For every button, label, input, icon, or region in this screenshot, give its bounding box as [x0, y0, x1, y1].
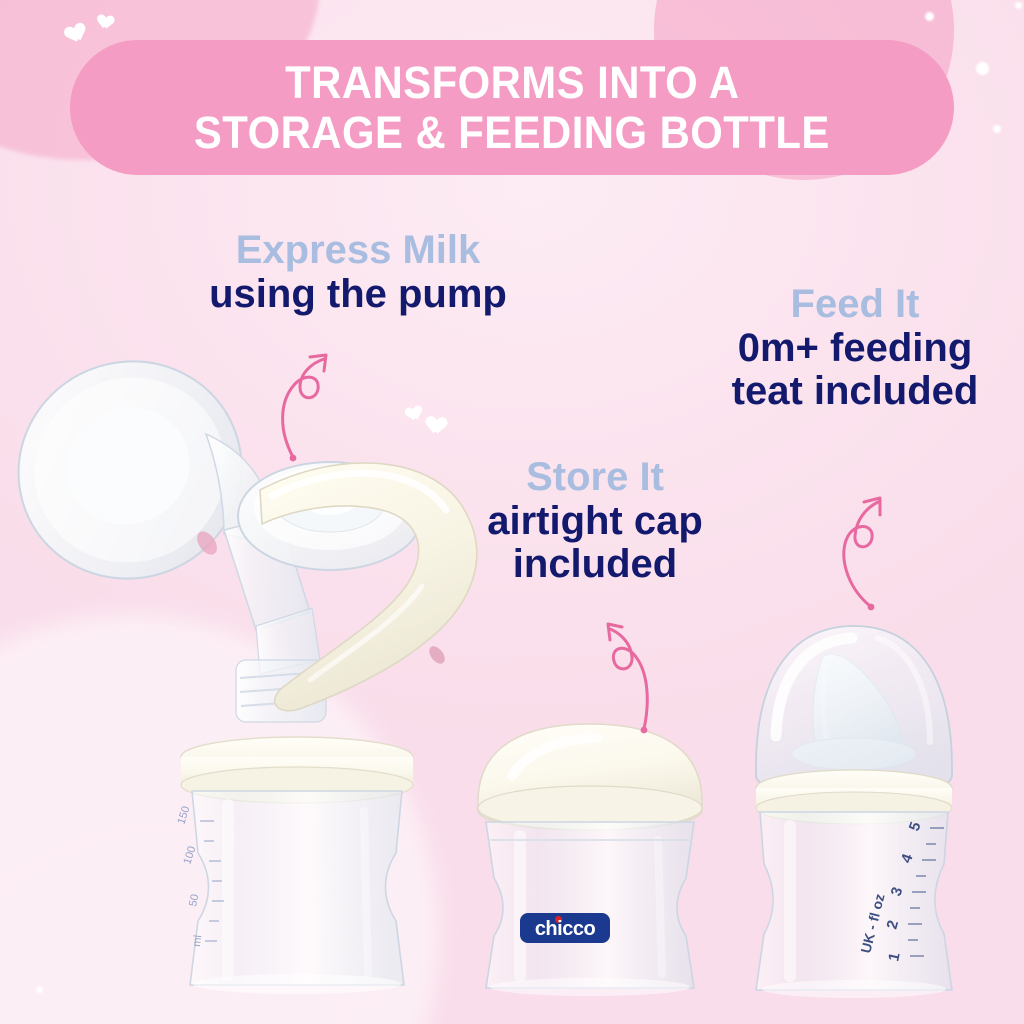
svg-text:50: 50 — [187, 893, 201, 907]
callout-title: Feed It — [690, 282, 1020, 327]
pump-breast-shield — [10, 330, 274, 612]
sparkle-icon — [1015, 2, 1022, 9]
banner-line-1: TRANSFORMS INTO A — [285, 59, 739, 106]
svg-text:150: 150 — [175, 805, 192, 826]
headline-banner: TRANSFORMS INTO A STORAGE & FEEDING BOTT… — [70, 40, 954, 175]
callout-body-line: included — [420, 543, 770, 586]
banner-line-2: STORAGE & FEEDING BOTTLE — [194, 109, 830, 156]
curly-arrow-to-storage — [592, 615, 672, 735]
callout-express-milk: Express Milk using the pump — [148, 228, 568, 316]
pump-bottle-illustration: 150 100 50 ml — [168, 735, 426, 995]
sparkle-icon — [993, 125, 1001, 133]
airtight-cap — [478, 724, 702, 830]
callout-feed-it: Feed It 0m+ feeding teat included — [690, 282, 1020, 413]
sparkle-icon — [36, 986, 43, 993]
feeding-bottle-illustration: 5 4 3 2 1 UK - fl oz — [730, 612, 980, 1002]
callout-body-line: airtight cap — [420, 500, 770, 543]
curly-arrow-to-pump — [262, 345, 342, 465]
sparkle-icon — [976, 62, 989, 75]
svg-text:100: 100 — [181, 845, 198, 866]
callout-title: Store It — [420, 455, 770, 500]
chicco-logo: chicco — [520, 913, 610, 943]
curly-arrow-to-bottle — [822, 488, 907, 616]
logo-text: chicco — [535, 918, 595, 941]
heart-icon — [100, 15, 114, 31]
callout-body-line: using the pump — [148, 273, 568, 316]
sparkle-icon — [925, 12, 934, 21]
svg-text:ml: ml — [191, 935, 204, 948]
product-feature-image: TRANSFORMS INTO A STORAGE & FEEDING BOTT… — [0, 0, 1024, 1024]
storage-container-illustration — [468, 718, 712, 998]
callout-store-it: Store It airtight cap included — [420, 455, 770, 586]
callout-body-line: teat included — [690, 370, 1020, 413]
callout-title: Express Milk — [148, 228, 568, 273]
callout-body-line: 0m+ feeding — [690, 327, 1020, 370]
